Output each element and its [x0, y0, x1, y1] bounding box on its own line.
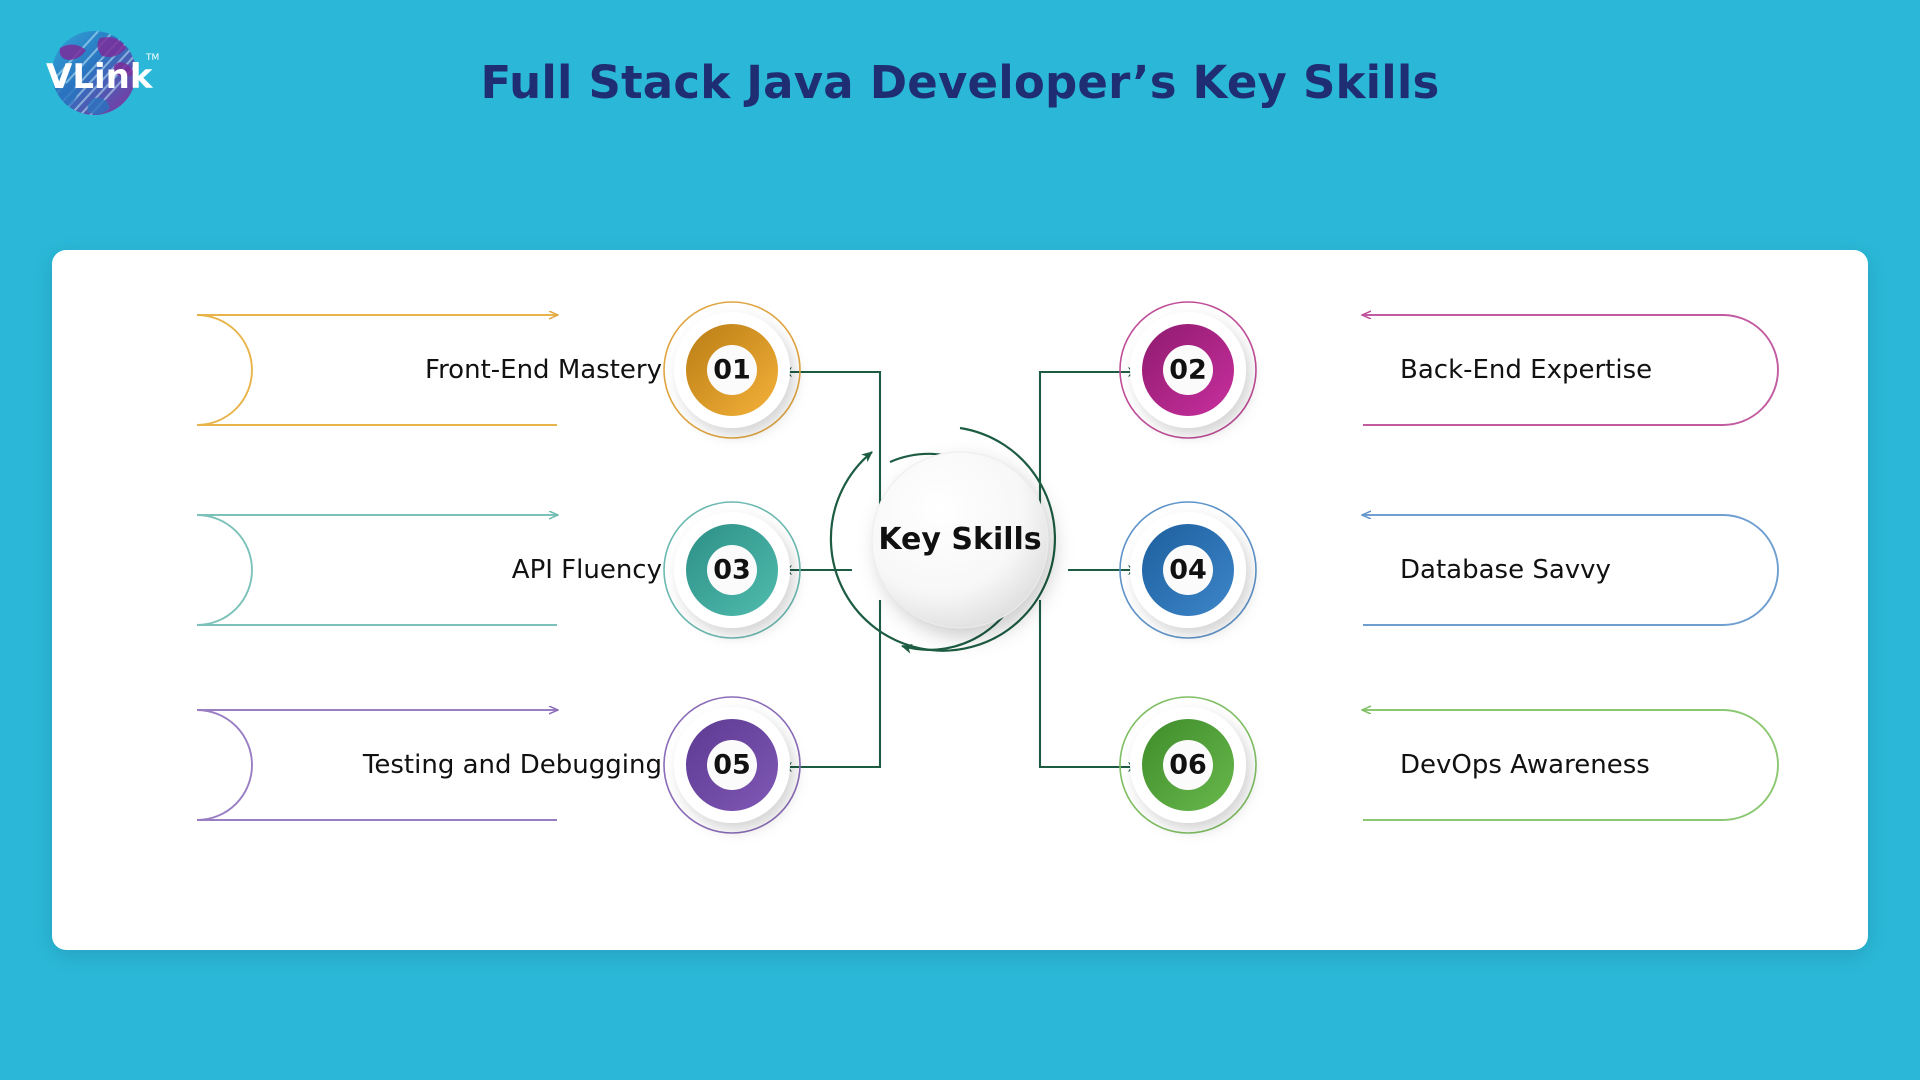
badge-number-01: 01: [713, 357, 751, 384]
item-label-02: Back-End Expertise: [1400, 357, 1652, 383]
badge-number-02: 02: [1169, 357, 1207, 384]
connector-hub-to-02: [1040, 372, 1138, 540]
badge-number-04: 04: [1169, 557, 1207, 584]
item-label-06: DevOps Awareness: [1400, 752, 1650, 778]
badge-number-06: 06: [1169, 752, 1207, 779]
diagram-card: Key Skills 01 02 03 04 05 06 Front-End M…: [52, 250, 1868, 950]
page-title: Full Stack Java Developer’s Key Skills: [0, 56, 1920, 109]
connector-hub-to-01: [782, 372, 880, 540]
badge-number-03: 03: [713, 557, 751, 584]
item-label-03: API Fluency: [512, 557, 662, 583]
badge-number-05: 05: [713, 752, 751, 779]
pill-outline-03: [197, 515, 557, 625]
item-label-04: Database Savvy: [1400, 557, 1611, 583]
item-label-05: Testing and Debugging: [363, 752, 662, 778]
item-label-01: Front-End Mastery: [425, 357, 662, 383]
hub-label: Key Skills: [878, 525, 1041, 555]
